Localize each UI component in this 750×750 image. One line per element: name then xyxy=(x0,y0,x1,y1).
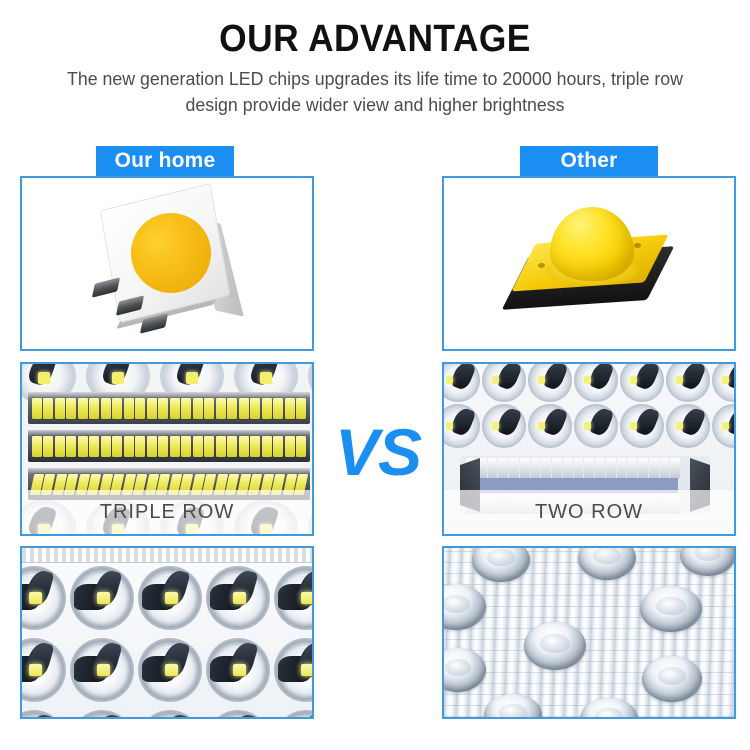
reflector-lens xyxy=(712,404,734,448)
bar-teeth-top xyxy=(466,458,680,478)
lens-dome xyxy=(524,622,586,670)
reflector-lens xyxy=(574,404,618,448)
page-title: OUR ADVANTAGE xyxy=(26,18,724,61)
column-banner-our-home: Our home xyxy=(96,146,234,176)
reflector-cup xyxy=(204,634,272,706)
reflector-lens xyxy=(528,404,572,448)
dome-base-hole xyxy=(538,263,545,268)
panel-other-reflector xyxy=(442,546,736,719)
reflector-cup xyxy=(272,634,312,706)
reflector-cup xyxy=(22,706,68,717)
lens-dome xyxy=(640,586,702,632)
reflector-cup xyxy=(68,634,136,706)
led-rail xyxy=(28,430,310,462)
two-row-lens-grid xyxy=(444,364,734,448)
panel-ours-chip xyxy=(20,176,314,351)
reflector-cup xyxy=(136,634,204,706)
reflector-lens xyxy=(528,364,572,402)
reflector-cup xyxy=(68,706,136,717)
caption-two-row: TWO ROW xyxy=(444,490,734,534)
reflector-lens xyxy=(482,364,526,402)
dome-base-hole xyxy=(634,243,641,248)
reflector-cups-closeup-photo xyxy=(22,548,312,717)
reflector-lens xyxy=(620,404,664,448)
reflector-cup xyxy=(68,562,136,634)
triple-led-strip xyxy=(28,392,310,502)
lens-dome xyxy=(642,656,702,702)
led-rail xyxy=(28,392,310,424)
reflector-lens xyxy=(666,404,710,448)
reflector-cup xyxy=(204,706,272,717)
reflector-cup xyxy=(22,634,68,706)
reflector-cup xyxy=(136,562,204,634)
header: OUR ADVANTAGE The new generation LED chi… xyxy=(0,0,750,130)
panel-other-two-row: TWO ROW xyxy=(442,362,736,536)
reflector-lens xyxy=(620,364,664,402)
reflector-cup xyxy=(204,562,272,634)
textured-reflector-sheet-photo xyxy=(444,548,734,717)
two-row-led-board-photo: TWO ROW xyxy=(444,364,734,534)
page-subtitle: The new generation LED chips upgrades it… xyxy=(42,66,708,118)
dome-lens xyxy=(550,207,634,281)
reflector-lens xyxy=(712,364,734,402)
dome-lens-led-photo xyxy=(444,178,734,349)
reflector-cup xyxy=(136,706,204,717)
column-banner-other: Other xyxy=(520,146,658,176)
led-row-2 xyxy=(32,436,306,457)
smd-chip-illustration xyxy=(87,189,247,339)
triple-row-led-board-photo: TRIPLE ROW xyxy=(22,364,312,534)
reflector-lens xyxy=(444,404,480,448)
caption-triple-row: TRIPLE ROW xyxy=(22,490,312,534)
vs-label: VS xyxy=(316,414,440,490)
smd-led-chip-photo xyxy=(22,178,312,349)
panel-other-chip xyxy=(442,176,736,351)
reflector-cup xyxy=(272,562,312,634)
panel-ours-triple-row: TRIPLE ROW xyxy=(20,362,314,536)
reflector-cup-grid xyxy=(22,562,312,717)
reflector-lens xyxy=(482,404,526,448)
reflector-top-edge xyxy=(22,548,312,563)
reflector-cup xyxy=(272,706,312,717)
led-row-1 xyxy=(32,398,306,419)
reflector-cup xyxy=(22,562,68,634)
reflector-lens xyxy=(574,364,618,402)
dome-led-illustration xyxy=(504,199,674,329)
reflector-lens xyxy=(666,364,710,402)
panel-ours-reflector xyxy=(20,546,314,719)
reflector-lens xyxy=(444,364,480,402)
